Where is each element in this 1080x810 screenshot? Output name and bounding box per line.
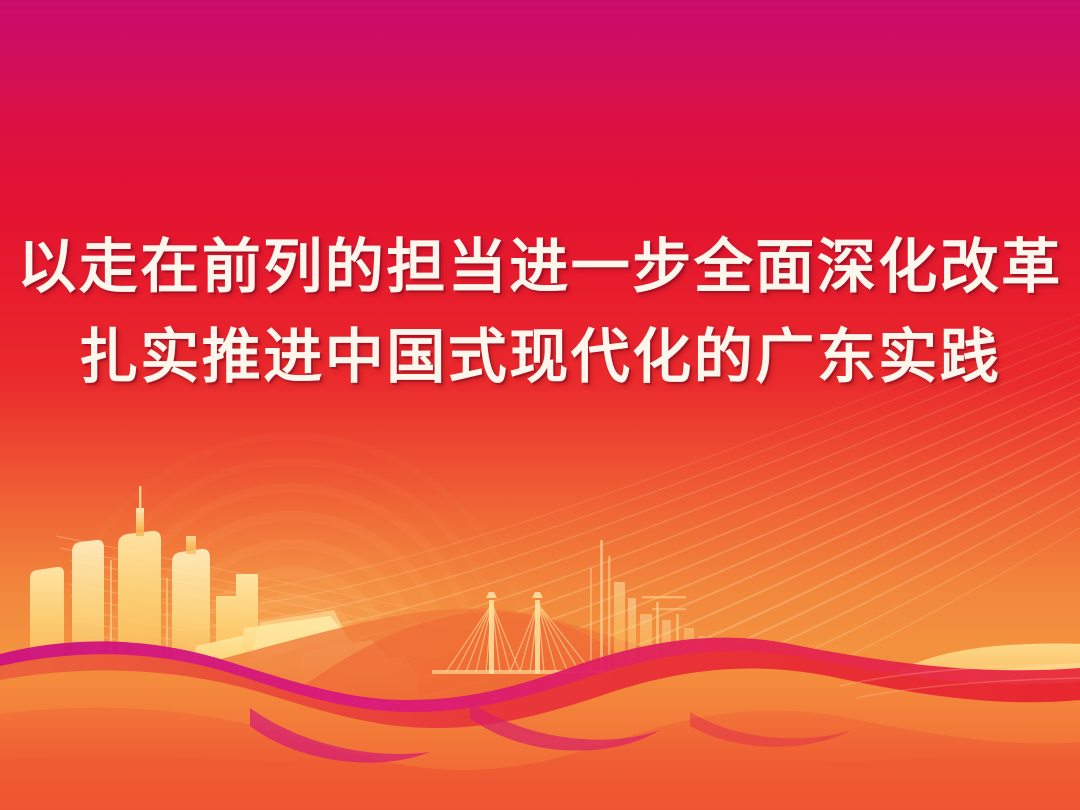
tower-crown — [136, 508, 144, 536]
bridge-tower-left — [489, 600, 494, 674]
tower-antenna — [139, 486, 141, 512]
bridge-tower-right — [535, 600, 540, 674]
background-artwork — [0, 0, 1080, 810]
poster-canvas: 以走在前列的担当进一步全面深化改革 扎实推进中国式现代化的广东实践 — [0, 0, 1080, 810]
